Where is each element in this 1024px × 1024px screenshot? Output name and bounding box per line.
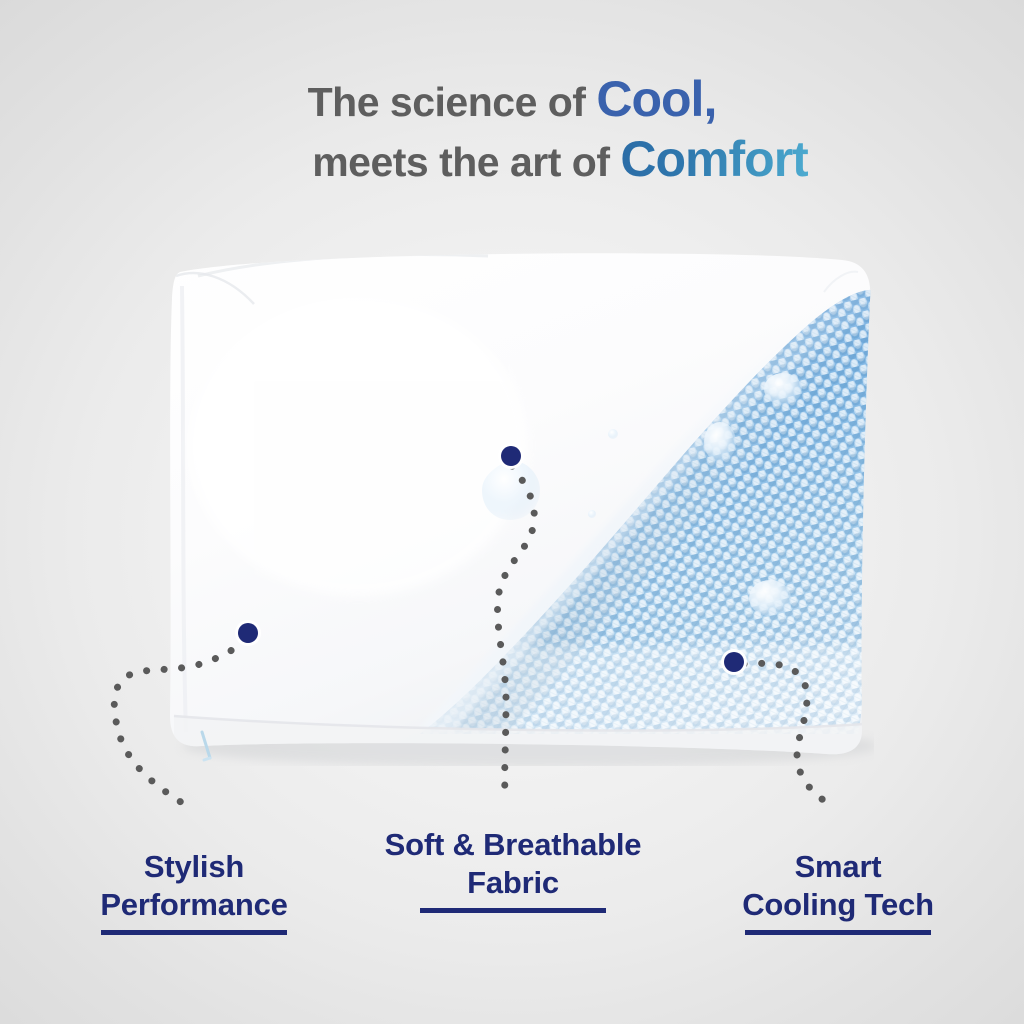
callout-label-smart-cooling-tech: Smart Cooling Tech [742, 849, 934, 922]
pillow-body [158, 246, 874, 766]
callout-label-stylish-performance: Stylish Performance [100, 849, 287, 922]
headline-line-2-prefix: meets the art of [312, 139, 620, 185]
callout-underline-soft-breathable-fabric [420, 908, 606, 913]
pillow-image [158, 246, 874, 766]
headline-line-1-prefix: The science of [308, 79, 597, 125]
headline-line-1: The science of Cool, [0, 72, 1024, 126]
callout-stylish-performance: Stylish Performance [96, 810, 292, 973]
callout-smart-cooling-tech: Smart Cooling Tech [740, 810, 936, 973]
headline-accent-comfort: Comfort [620, 131, 807, 187]
headline: The science of Cool, meets the art of Co… [0, 72, 1024, 186]
callout-soft-breathable-fabric: Soft & Breathable Fabric [370, 788, 656, 951]
headline-accent-cool: Cool, [596, 71, 716, 127]
headline-line-2: meets the art of Comfort [0, 132, 1024, 186]
callout-underline-smart-cooling-tech [745, 930, 931, 935]
infographic-canvas: The science of Cool, meets the art of Co… [0, 0, 1024, 1024]
callout-label-soft-breathable-fabric: Soft & Breathable Fabric [385, 827, 642, 900]
callout-underline-stylish-performance [101, 930, 287, 935]
